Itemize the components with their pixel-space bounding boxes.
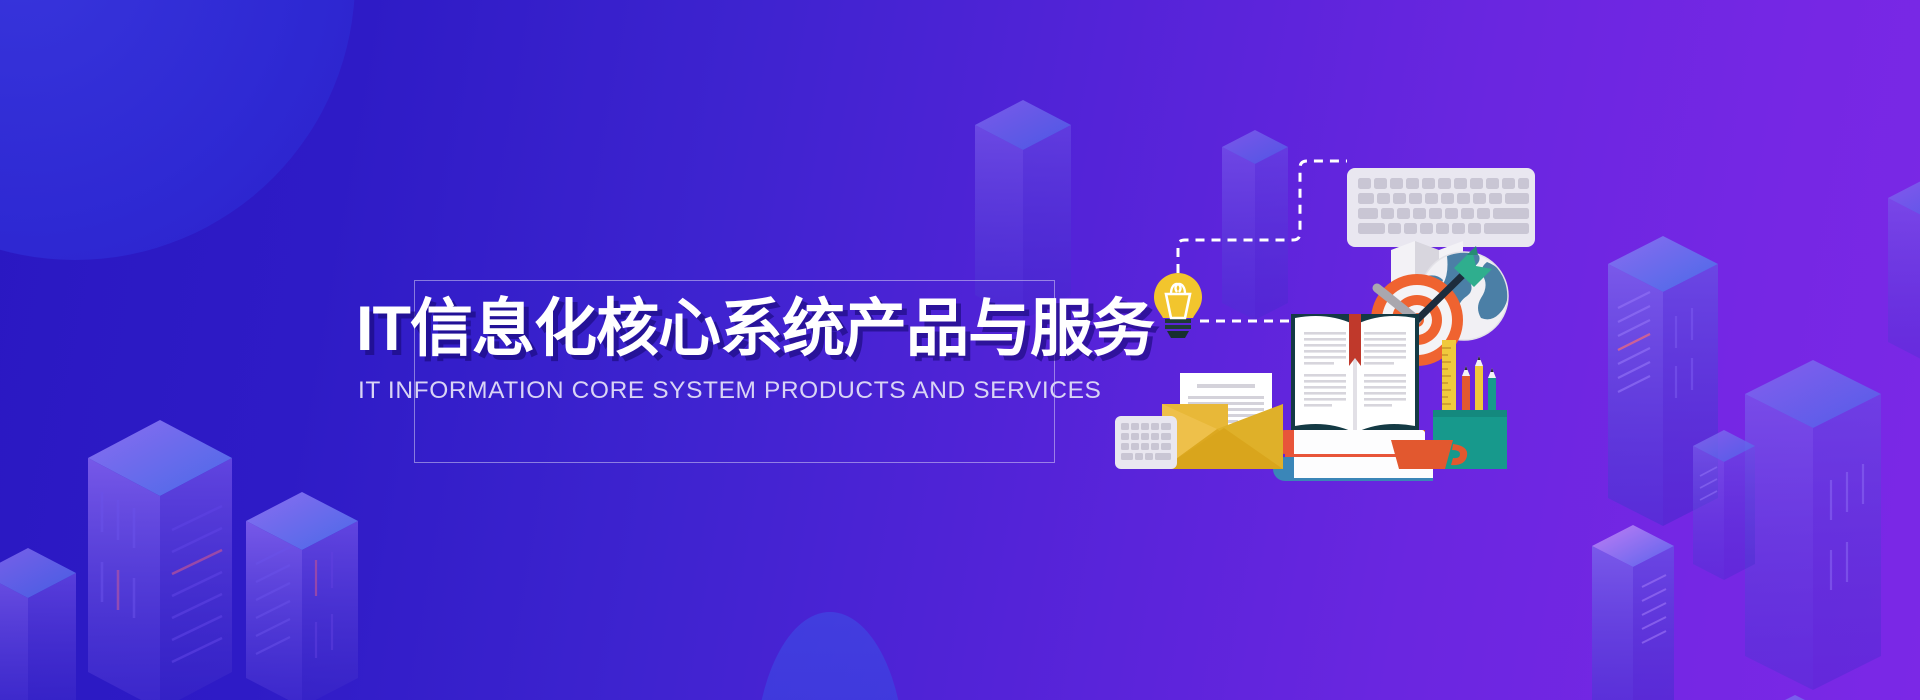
decor-building-right-4: [1745, 695, 1845, 700]
keyboard-icon: [1347, 168, 1535, 247]
decor-building-right-6: [1888, 180, 1920, 360]
title-block: IT信息化核心系统产品与服务 IT INFORMATION CORE SYSTE…: [356, 296, 1116, 405]
open-book-icon: [1291, 314, 1419, 432]
decor-building-left-3: [0, 548, 76, 700]
decor-building-left-2: [246, 492, 358, 700]
hero-banner: IT信息化核心系统产品与服务 IT INFORMATION CORE SYSTE…: [0, 0, 1920, 700]
decor-circle-top-left: [0, 0, 355, 260]
decor-building-right-2: [1745, 360, 1881, 690]
dashed-connector: [1178, 161, 1375, 321]
envelope-icon: [1162, 373, 1283, 469]
lightbulb-icon: [1154, 273, 1202, 338]
page-subtitle: IT INFORMATION CORE SYSTEM PRODUCTS AND …: [358, 377, 1116, 405]
hero-illustration: [1115, 128, 1535, 468]
page-title: IT信息化核心系统产品与服务: [356, 296, 1116, 363]
decor-building-right-5: [1592, 525, 1674, 700]
decor-building-left-1: [88, 420, 233, 700]
decor-building-right-1: [1608, 236, 1718, 526]
decor-ellipse-bottom-center: [755, 612, 905, 700]
keyboard-small-icon: [1115, 416, 1177, 469]
decor-building-right-3: [1693, 430, 1755, 580]
